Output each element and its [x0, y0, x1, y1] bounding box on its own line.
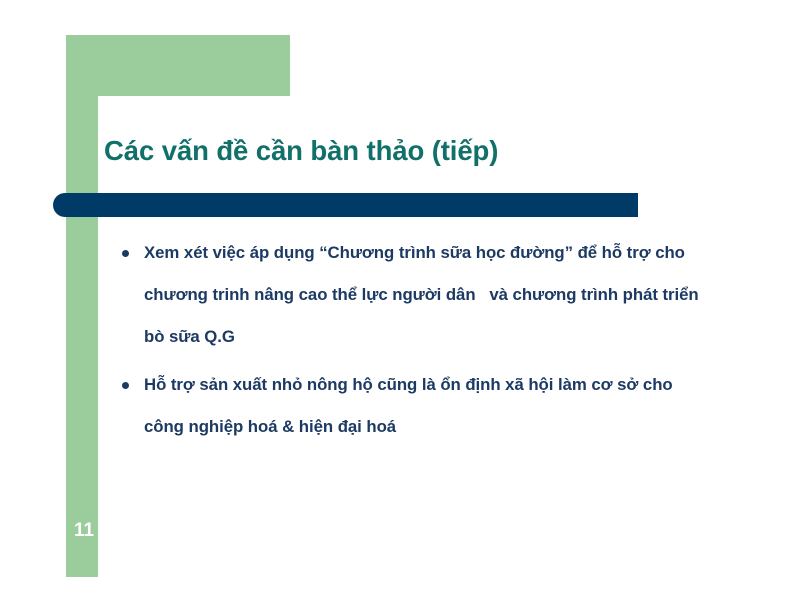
slide-title: Các vấn đề cần bàn thảo (tiếp) [104, 133, 704, 169]
green-side-bar [66, 35, 98, 577]
page-number: 11 [70, 519, 98, 543]
presentation-slide: Các vấn đề cần bàn thảo (tiếp) Xem xét v… [0, 0, 792, 612]
bullet-item-2: Hỗ trợ sản xuất nhỏ nông hộ cũng là ổn đ… [116, 364, 716, 448]
green-header-block [66, 35, 290, 96]
bullet-list: Xem xét việc áp dụng “Chương trình sữa h… [116, 232, 716, 454]
bullet-item-1: Xem xét việc áp dụng “Chương trình sữa h… [116, 232, 716, 358]
title-underline-bar [53, 193, 638, 217]
